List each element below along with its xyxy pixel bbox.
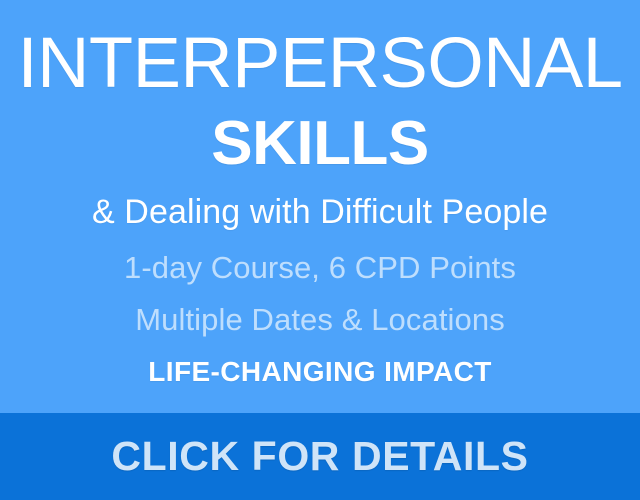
advertisement-banner: INTERPERSONAL SKILLS & Dealing with Diff…: [0, 0, 640, 500]
banner-tagline: LIFE-CHANGING IMPACT: [0, 358, 640, 386]
detail-course-duration: 1-day Course, 6 CPD Points: [0, 252, 640, 283]
headline-primary: INTERPERSONAL: [0, 28, 640, 99]
click-for-details-button[interactable]: CLICK FOR DETAILS: [0, 413, 640, 500]
detail-dates-locations: Multiple Dates & Locations: [0, 304, 640, 335]
banner-subheadline: & Dealing with Difficult People: [0, 195, 640, 229]
headline-secondary: SKILLS: [0, 113, 640, 175]
cta-button-label: CLICK FOR DETAILS: [111, 436, 528, 477]
banner-message-block: INTERPERSONAL SKILLS & Dealing with Diff…: [0, 0, 640, 413]
